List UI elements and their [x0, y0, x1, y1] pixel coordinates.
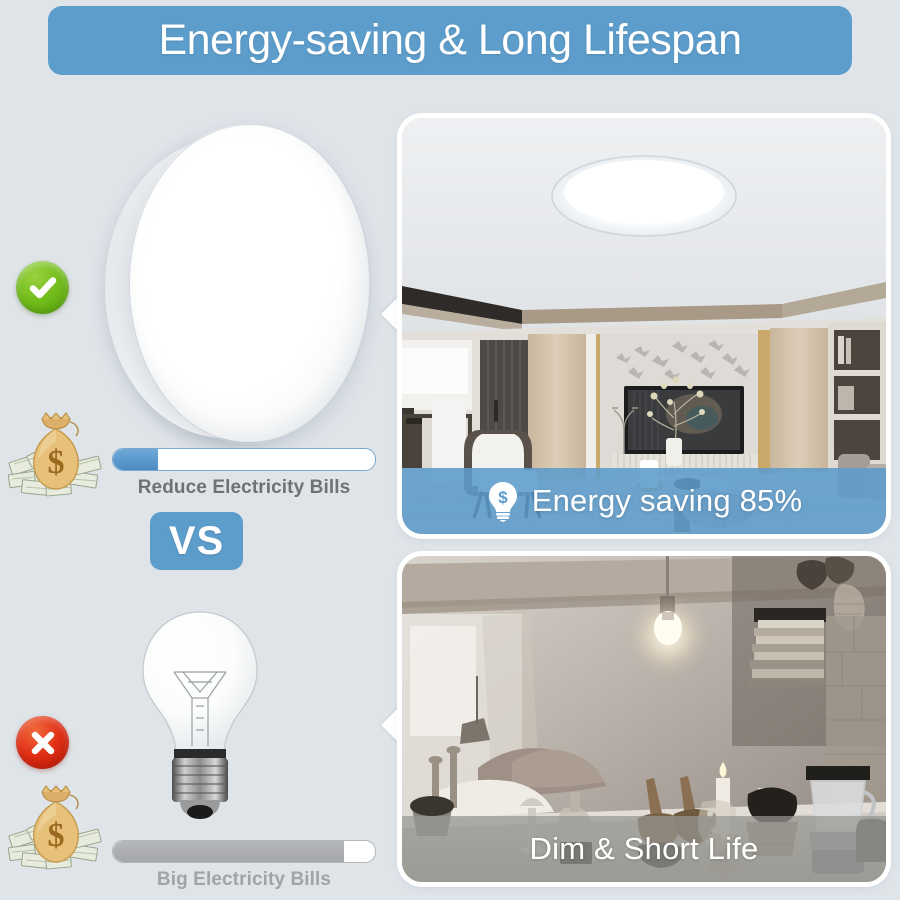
progress-track: [112, 840, 376, 863]
progress-fill: [113, 449, 158, 470]
pointer-triangle-top-icon: [381, 293, 402, 335]
progress-label: Reduce Electricity Bills: [112, 477, 376, 499]
money-bag-icon: $: [8, 784, 104, 872]
caption-label: Energy saving 85%: [532, 483, 803, 519]
led-ceiling-light-image: [105, 118, 370, 448]
svg-text:$: $: [498, 488, 508, 507]
svg-text:$: $: [48, 444, 65, 481]
money-bag-icon: $: [8, 411, 104, 499]
bright-room-card: $ Energy saving 85%: [402, 118, 886, 534]
incandescent-bulb-image: [130, 606, 270, 821]
progress-label: Big Electricity Bills: [112, 869, 376, 891]
vs-label: VS: [169, 519, 224, 564]
promo-graphic: Energy-saving & Long Lifespan: [0, 0, 900, 900]
reduce-electricity-bills-meter: Reduce Electricity Bills: [112, 448, 376, 499]
energy-saving-caption: $ Energy saving 85%: [402, 468, 886, 534]
big-electricity-bills-meter: Big Electricity Bills: [112, 840, 376, 891]
pointer-triangle-bottom-icon: [381, 704, 402, 746]
led-lamp-rim: [129, 124, 371, 444]
red-x-icon: [16, 716, 69, 769]
banner-title: Energy-saving & Long Lifespan: [158, 19, 741, 62]
green-check-icon: [16, 261, 69, 314]
vs-badge: VS: [150, 512, 243, 570]
lightbulb-dollar-icon: $: [486, 480, 520, 522]
progress-fill: [113, 841, 344, 862]
header-banner: Energy-saving & Long Lifespan: [48, 6, 852, 75]
dim-short-life-caption: Dim & Short Life: [402, 816, 886, 882]
progress-track: [112, 448, 376, 471]
svg-text:$: $: [48, 817, 65, 854]
caption-label: Dim & Short Life: [530, 831, 759, 867]
dim-room-card: Dim & Short Life: [402, 556, 886, 882]
